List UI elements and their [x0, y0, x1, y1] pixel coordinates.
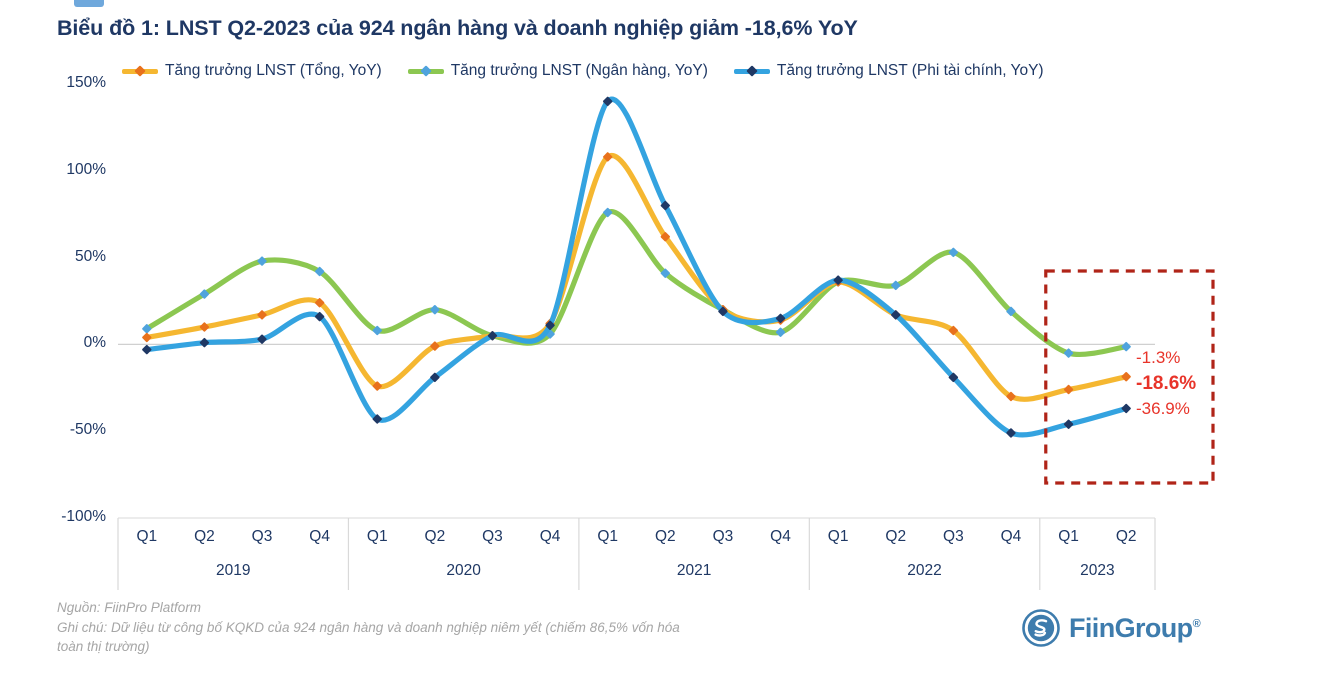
logo-registered-mark: ®	[1193, 618, 1201, 630]
x-axis-year-2022: 2022	[865, 562, 985, 580]
x-axis-quarter-0: Q1	[119, 528, 175, 546]
x-axis-year-2020: 2020	[404, 562, 524, 580]
y-axis-tick-0: 0%	[32, 334, 106, 352]
y-axis-tick-100: 100%	[32, 161, 106, 179]
logo-wordmark: FiinGroup®	[1069, 613, 1200, 644]
footnote-note-line1: Ghi chú: Dữ liệu từ công bố KQKD của 924…	[57, 618, 917, 638]
footnote-note-line2: toàn thị trường)	[57, 637, 917, 657]
x-axis-quarter-15: Q4	[983, 528, 1039, 546]
data-label-total: -18.6%	[1136, 373, 1196, 395]
x-axis-year-2021: 2021	[634, 562, 754, 580]
x-axis-quarter-7: Q4	[522, 528, 578, 546]
logo-name: FiinGroup	[1069, 613, 1193, 643]
x-axis-quarter-5: Q2	[407, 528, 463, 546]
x-axis-year-2023: 2023	[1037, 562, 1157, 580]
x-axis-quarter-8: Q1	[580, 528, 636, 546]
x-axis-quarter-6: Q3	[464, 528, 520, 546]
x-axis-quarter-13: Q2	[868, 528, 924, 546]
y-axis-tick-150: 150%	[32, 74, 106, 92]
x-axis-quarter-14: Q3	[925, 528, 981, 546]
x-axis-quarter-1: Q2	[176, 528, 232, 546]
x-axis-quarter-9: Q2	[637, 528, 693, 546]
x-axis-quarter-16: Q1	[1041, 528, 1097, 546]
footnote: Nguồn: FiinPro Platform Ghi chú: Dữ liệu…	[57, 598, 917, 657]
y-axis-tick-50: 50%	[32, 248, 106, 266]
x-axis-quarter-2: Q3	[234, 528, 290, 546]
x-axis-quarter-17: Q2	[1098, 528, 1154, 546]
series-1	[142, 207, 1132, 358]
x-axis-quarter-3: Q4	[292, 528, 348, 546]
series-2	[142, 96, 1132, 438]
footnote-source: Nguồn: FiinPro Platform	[57, 598, 917, 618]
fiingroup-s-emblem-icon	[1022, 609, 1060, 647]
y-axis-tick-neg100: -100%	[32, 508, 106, 526]
x-axis-quarter-4: Q1	[349, 528, 405, 546]
data-label-nonfinancial: -36.9%	[1136, 399, 1190, 419]
x-axis-quarter-11: Q4	[753, 528, 809, 546]
x-axis-year-2019: 2019	[173, 562, 293, 580]
data-label-banks: -1.3%	[1136, 348, 1180, 368]
y-axis-tick-neg50: -50%	[32, 421, 106, 439]
x-axis-quarter-10: Q3	[695, 528, 751, 546]
x-axis-quarter-12: Q1	[810, 528, 866, 546]
fiingroup-logo: FiinGroup®	[1022, 609, 1200, 647]
